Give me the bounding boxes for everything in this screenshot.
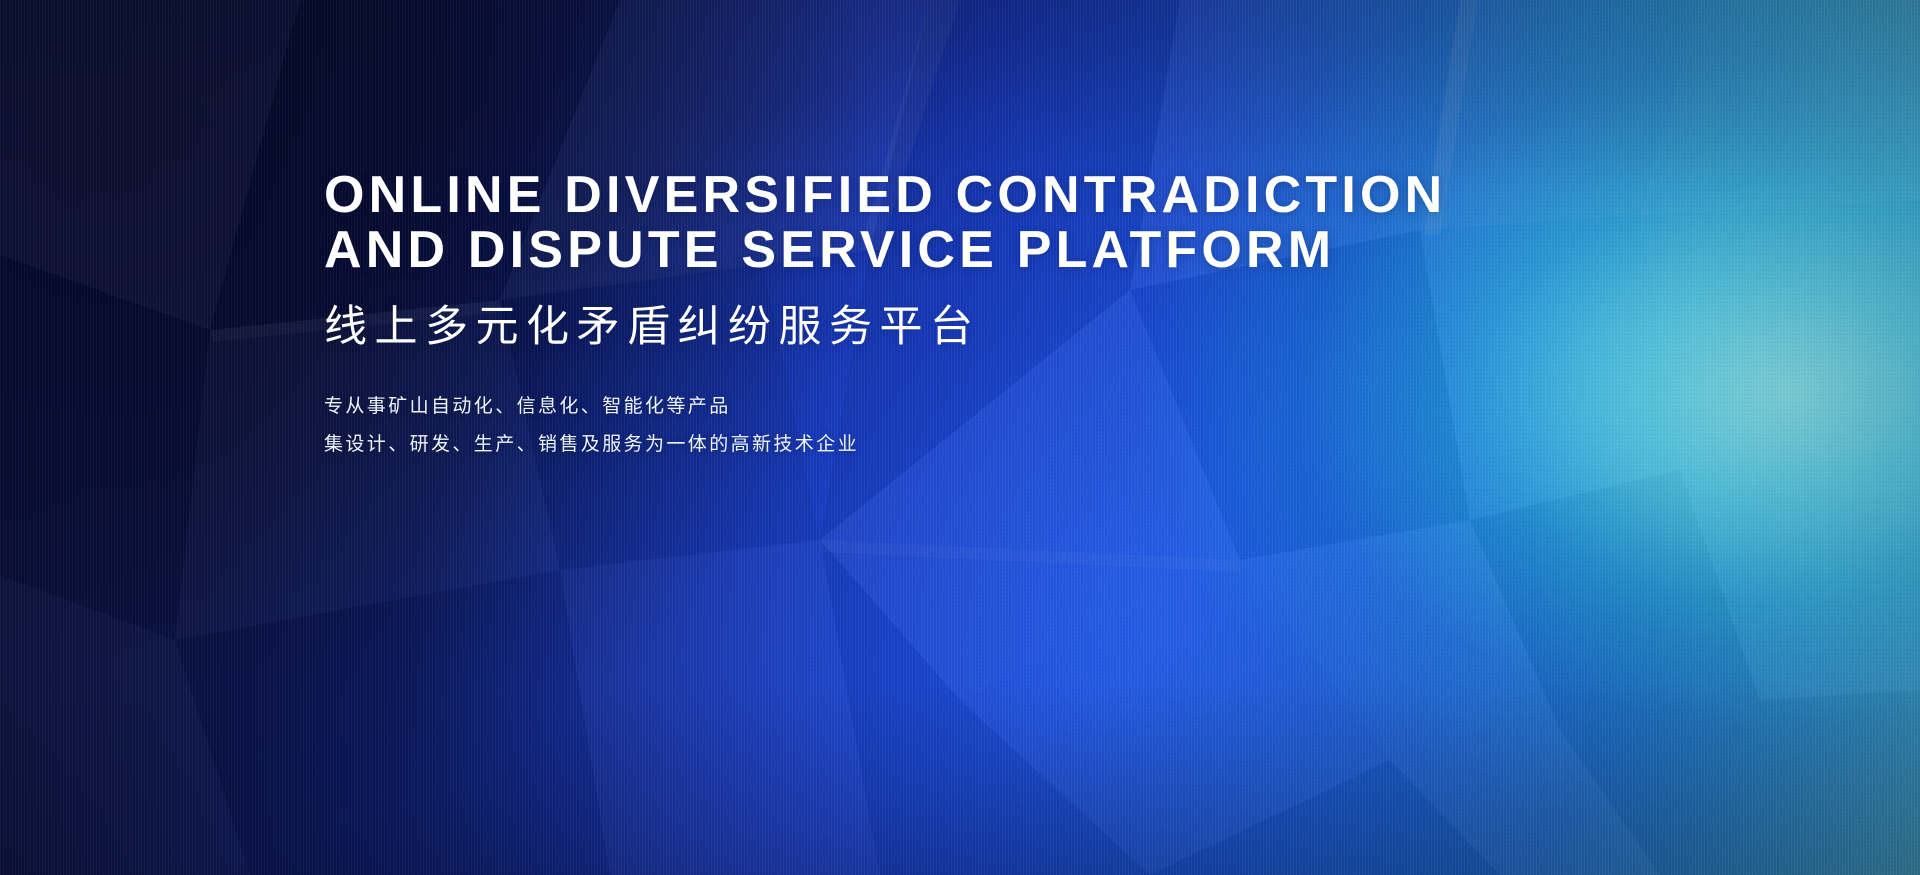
banner-title-english: ONLINE DIVERSIFIED CONTRADICTION AND DIS… [324,168,1624,278]
description-line-2: 集设计、研发、生产、销售及服务为一体的高新技术企业 [324,426,1624,464]
banner-content: ONLINE DIVERSIFIED CONTRADICTION AND DIS… [324,168,1624,464]
banner-subtitle-chinese: 线上多元化矛盾纠纷服务平台 [324,300,1624,354]
description-line-1: 专从事矿山自动化、信息化、智能化等产品 [324,388,1624,426]
title-line-2: AND DISPUTE SERVICE PLATFORM [324,223,1624,278]
hero-banner: ONLINE DIVERSIFIED CONTRADICTION AND DIS… [0,0,1920,875]
banner-description: 专从事矿山自动化、信息化、智能化等产品 集设计、研发、生产、销售及服务为一体的高… [324,388,1624,464]
title-line-1: ONLINE DIVERSIFIED CONTRADICTION [324,168,1624,223]
